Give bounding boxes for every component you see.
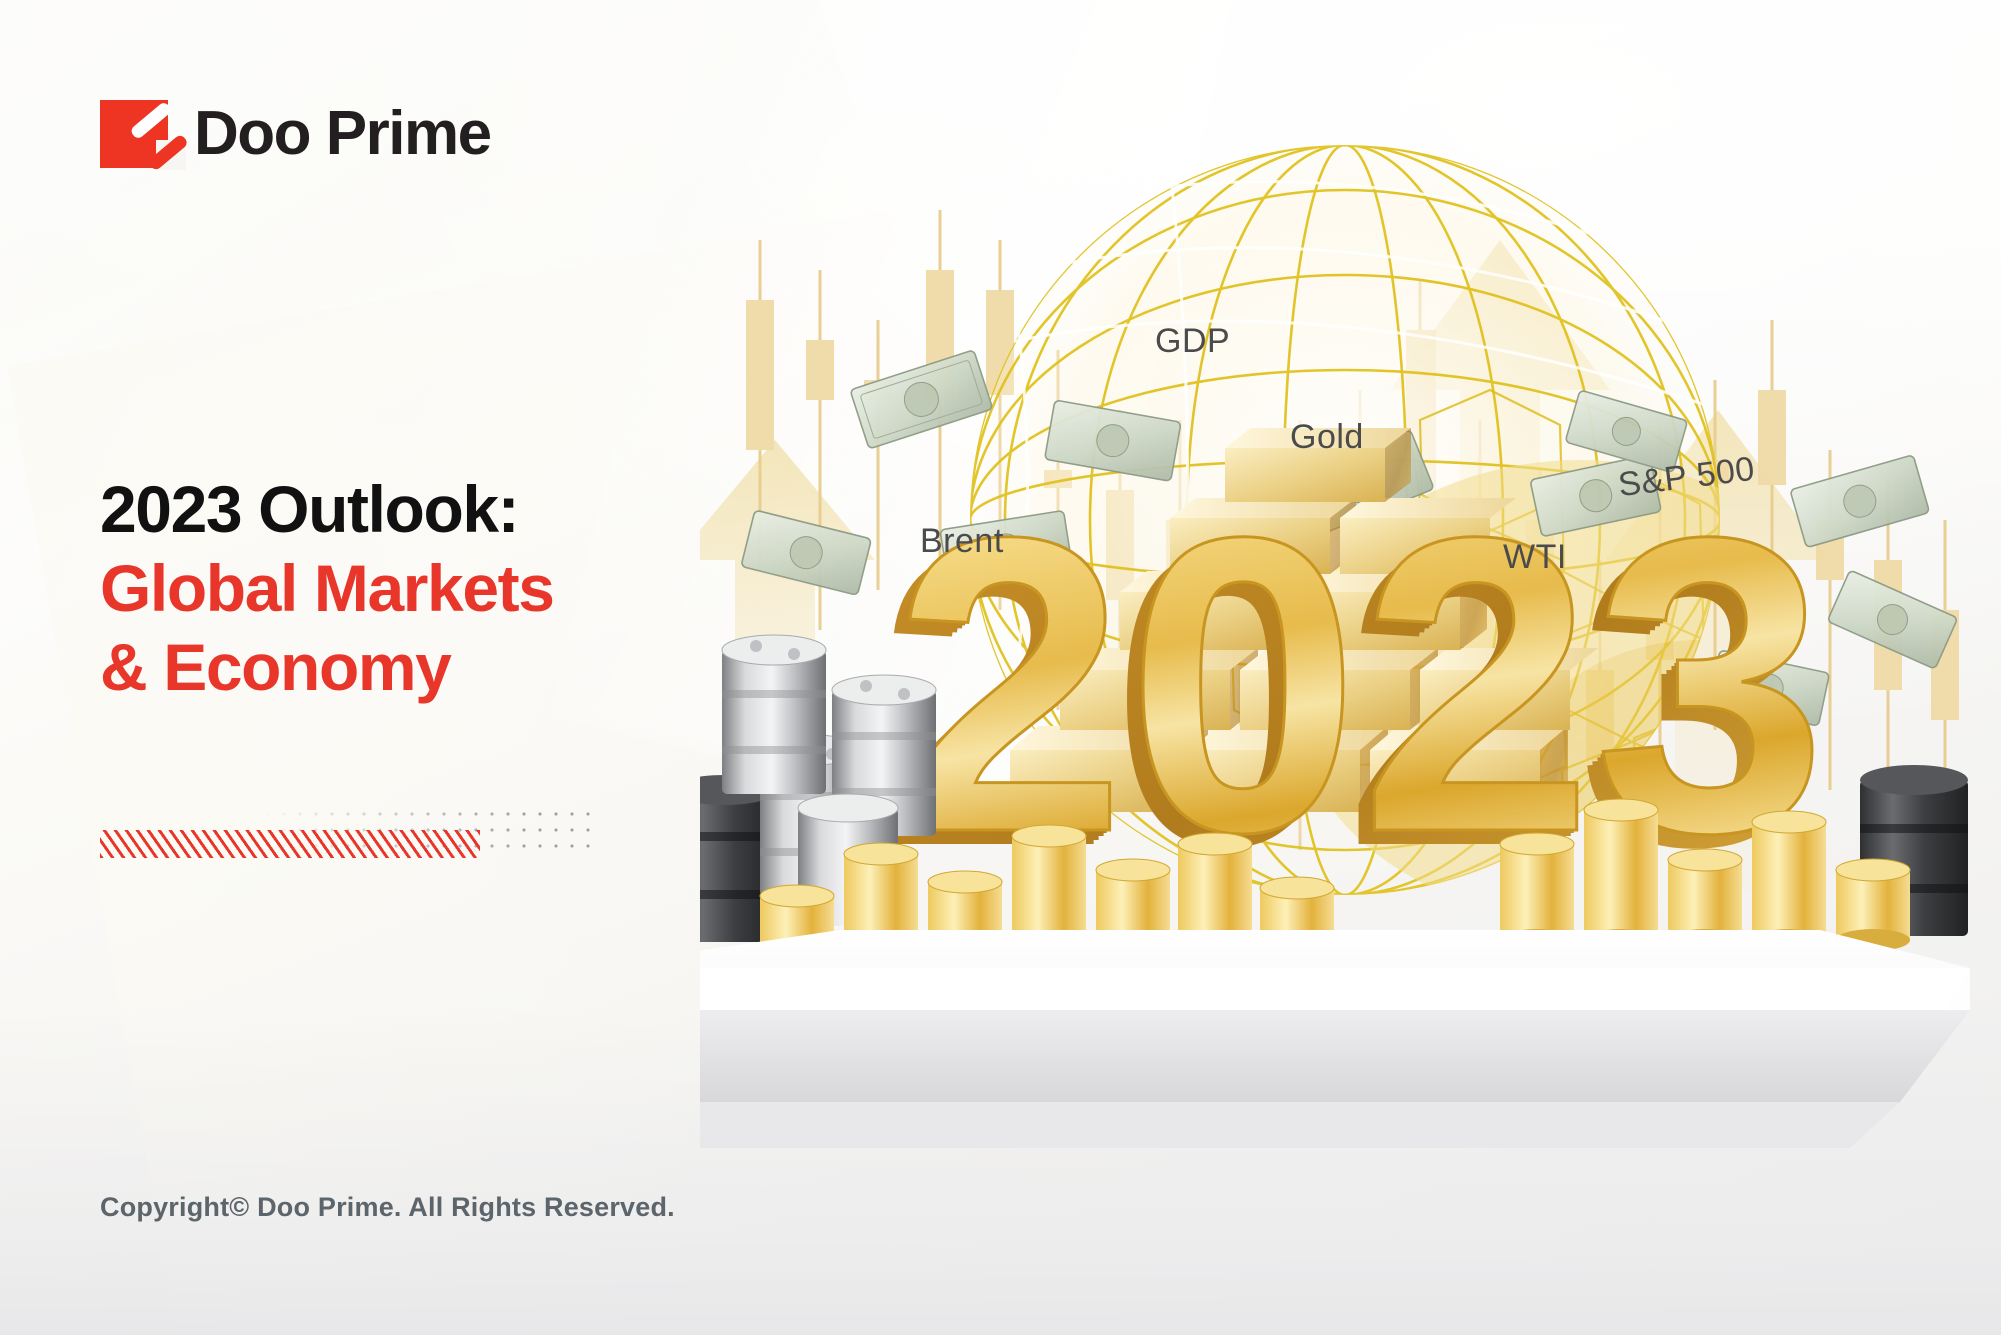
headline-line-1: 2023 Outlook: bbox=[100, 470, 554, 549]
brand-wordmark: Doo Prime bbox=[194, 103, 491, 165]
label-gdp: GDP bbox=[1155, 322, 1230, 361]
footer-block: Copyright© Doo Prime. All Rights Reserve… bbox=[100, 1192, 675, 1223]
logo-slash-upper bbox=[129, 101, 173, 141]
brand-logo: Doo Prime bbox=[100, 100, 491, 168]
headline-line-2: Global Markets bbox=[100, 549, 554, 628]
label-brent: Brent bbox=[920, 522, 1004, 561]
hexagonal-pedestal bbox=[700, 930, 1970, 1148]
hero-illustration: 2023 2023 2023 2023 2023 bbox=[700, 90, 1980, 1170]
doo-prime-logo-mark bbox=[100, 100, 168, 168]
headline-block: 2023 Outlook: Global Markets & Economy bbox=[100, 470, 554, 708]
label-gold: Gold bbox=[1290, 418, 1364, 457]
decorative-rule bbox=[100, 806, 600, 858]
red-stripe-pattern bbox=[100, 830, 480, 858]
headline-line-3: & Economy bbox=[100, 628, 554, 707]
marketing-banner: 2023 2023 2023 2023 2023 bbox=[0, 0, 2001, 1335]
label-wti: WTI bbox=[1503, 538, 1567, 577]
copyright-text: Copyright© Doo Prime. All Rights Reserve… bbox=[100, 1192, 675, 1223]
